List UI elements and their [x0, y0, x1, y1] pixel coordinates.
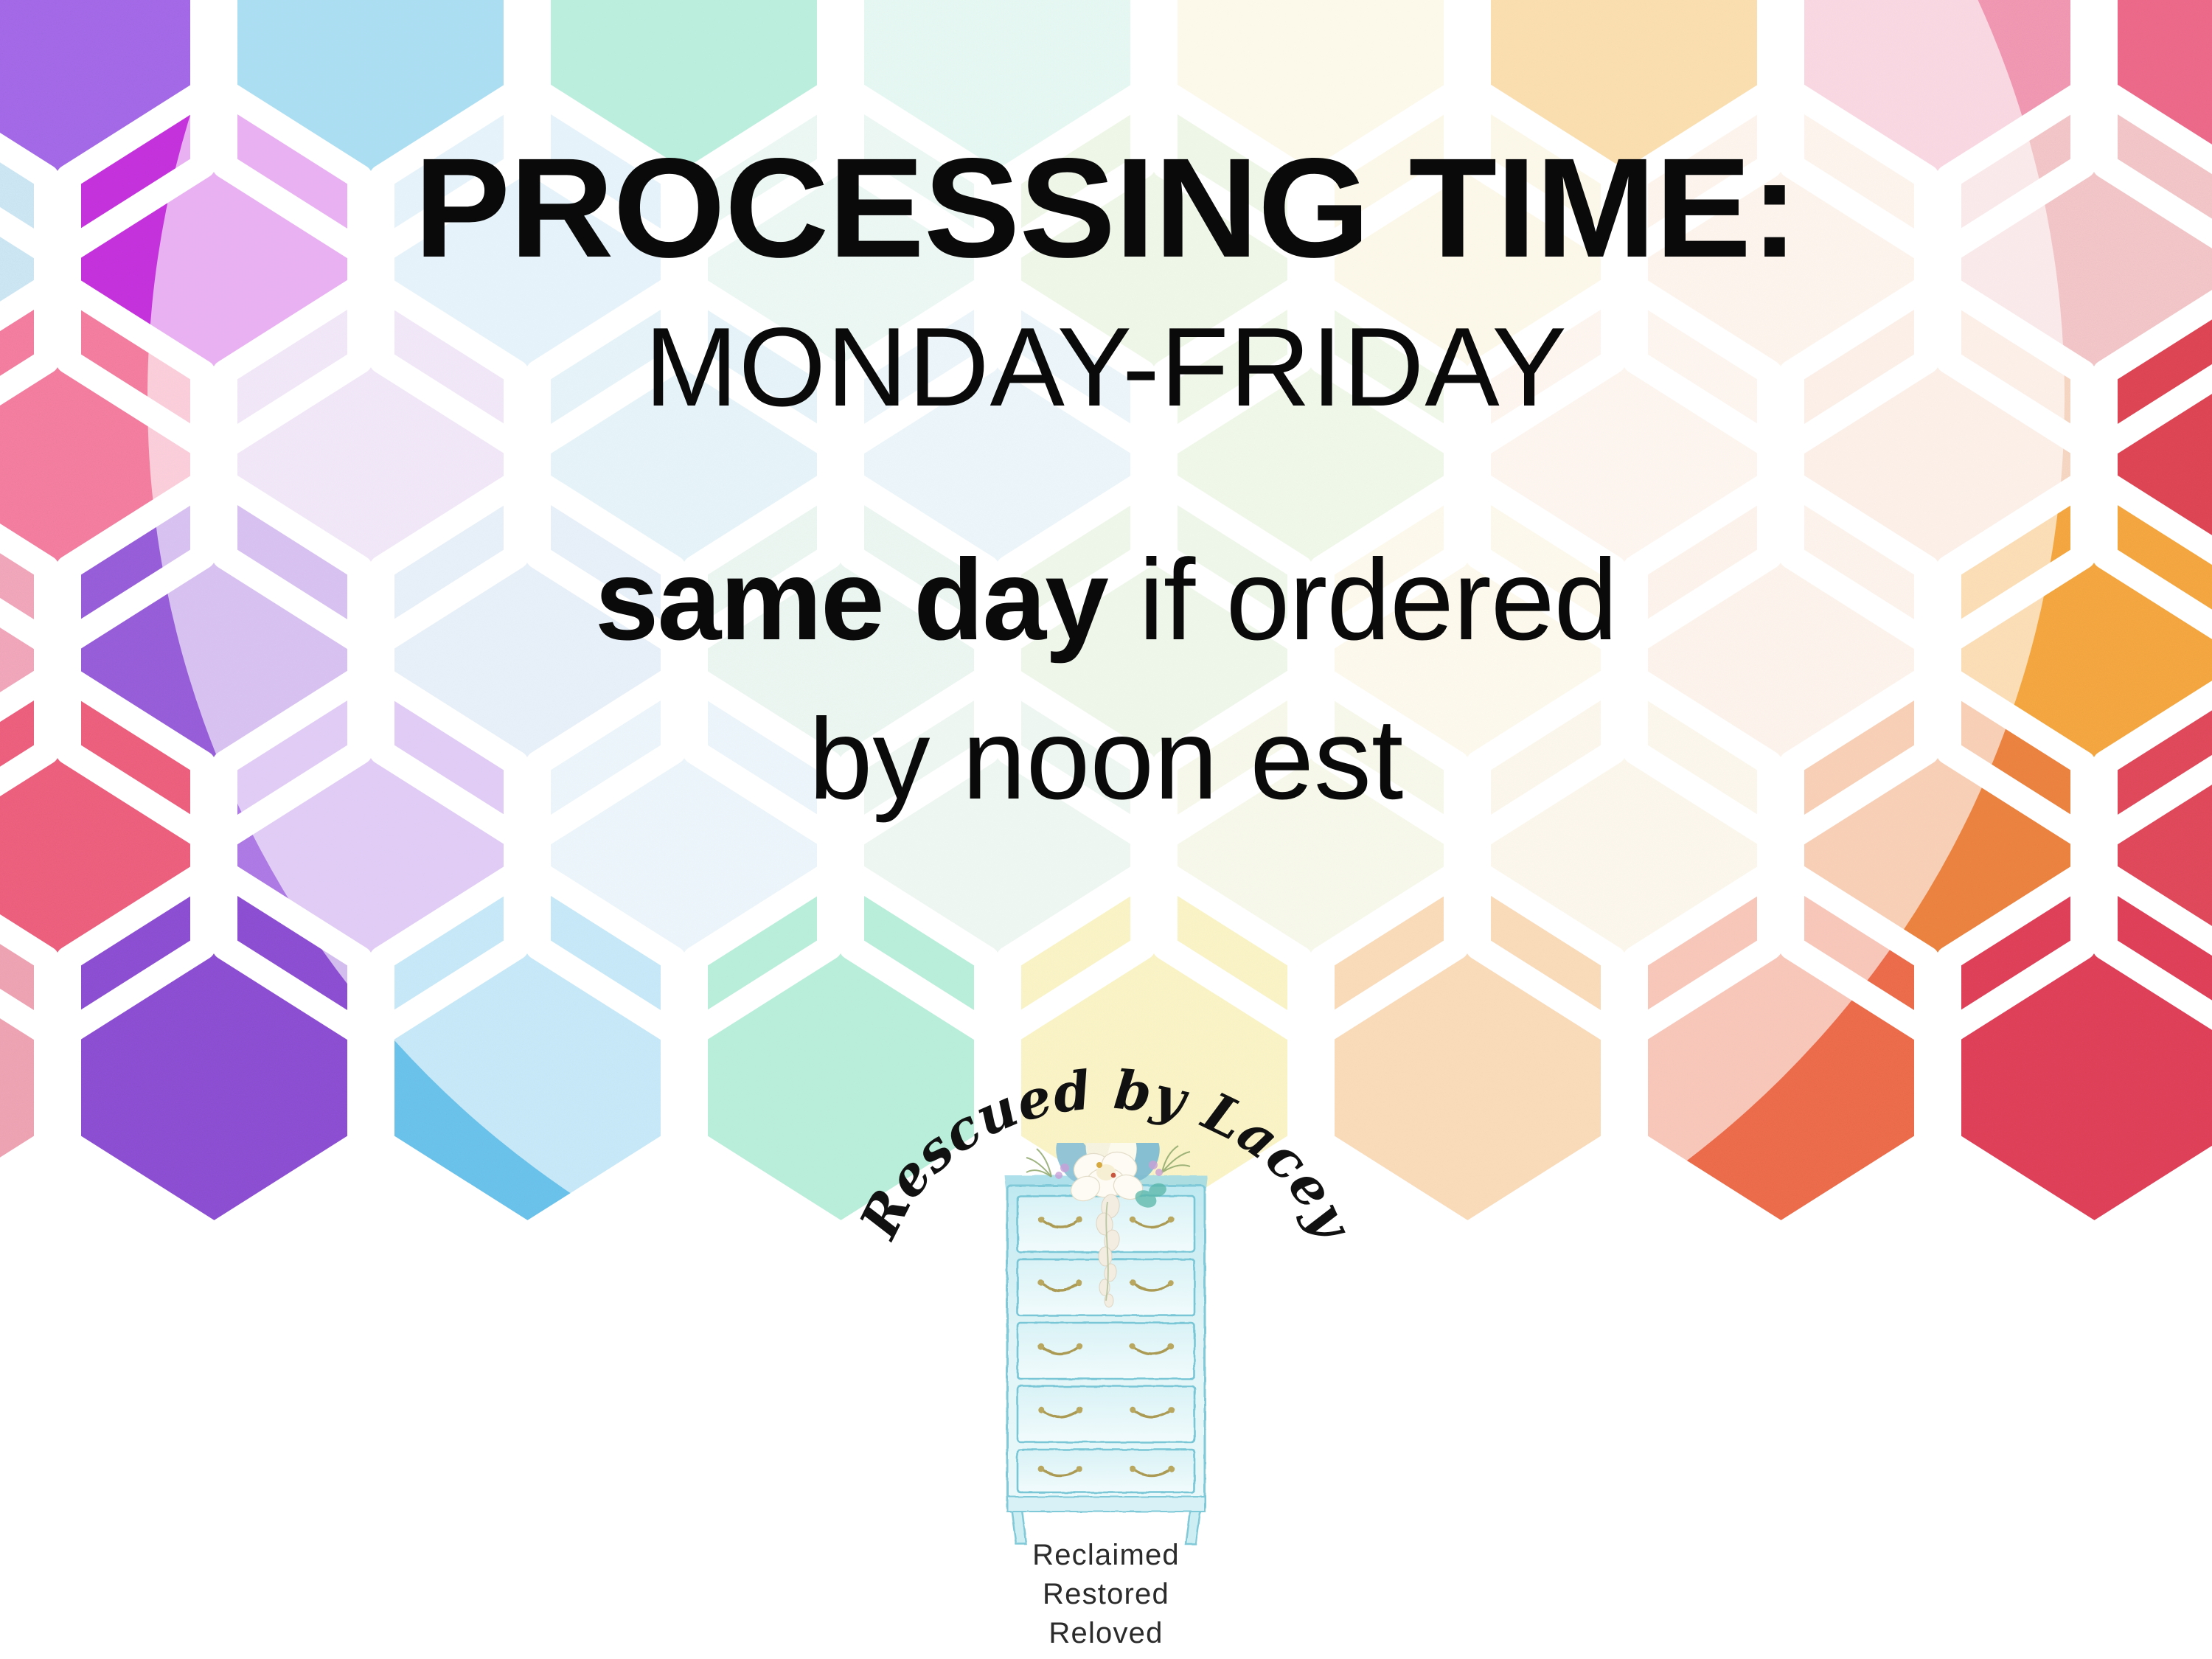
tagline-line-2: Restored: [1032, 1575, 1180, 1614]
dresser-svg: [988, 1143, 1224, 1556]
promise-line-1: same day if ordered: [0, 543, 2212, 658]
poster-canvas: PROCESSING TIME: MONDAY-FRIDAY same day …: [0, 0, 2212, 1659]
promise-rest: if ordered: [1107, 536, 1617, 664]
subtitle-days: MONDAY-FRIDAY: [0, 311, 2212, 423]
promise-emphasis: same day: [595, 536, 1107, 664]
brand-tagline: Reclaimed Restored Reloved: [1032, 1536, 1180, 1652]
promise-line-2: by noon est: [0, 702, 2212, 817]
dresser-illustration: [988, 1143, 1224, 1556]
tagline-line-3: Reloved: [1032, 1614, 1180, 1653]
poster-text-block: PROCESSING TIME: MONDAY-FRIDAY same day …: [0, 0, 2212, 817]
brand-logo: Rescued by Lacey: [848, 1032, 1364, 1644]
tagline-line-1: Reclaimed: [1032, 1536, 1180, 1575]
page-title: PROCESSING TIME:: [0, 137, 2212, 279]
